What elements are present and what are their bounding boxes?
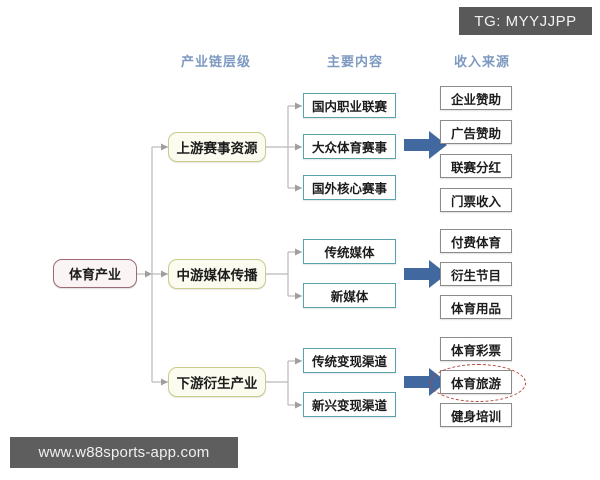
node-revenue-downstream-1[interactable]: 体育彩票 bbox=[440, 337, 512, 361]
node-revenue-upstream-4[interactable]: 门票收入 bbox=[440, 188, 512, 212]
diagram-canvas: 产业链层级 主要内容 收入来源 体育产业 上游赛事资源 中游媒体传播 下游衍生产… bbox=[0, 0, 600, 480]
tg-badge: TG: MYYJJPP bbox=[459, 7, 592, 35]
node-revenue-upstream-1[interactable]: 企业赞助 bbox=[440, 86, 512, 110]
node-content-midstream-1[interactable]: 传统媒体 bbox=[303, 239, 396, 264]
node-revenue-midstream-1[interactable]: 付费体育 bbox=[440, 229, 512, 253]
node-content-upstream-3[interactable]: 国外核心赛事 bbox=[303, 175, 396, 200]
node-revenue-upstream-2[interactable]: 广告赞助 bbox=[440, 120, 512, 144]
node-content-downstream-2[interactable]: 新兴变现渠道 bbox=[303, 392, 396, 417]
column-header-stage: 产业链层级 bbox=[166, 51, 266, 70]
column-header-revenue: 收入来源 bbox=[437, 51, 527, 70]
node-revenue-downstream-3[interactable]: 健身培训 bbox=[440, 403, 512, 427]
node-revenue-midstream-3[interactable]: 体育用品 bbox=[440, 295, 512, 319]
site-watermark: www.w88sports-app.com bbox=[10, 437, 238, 468]
node-root-sports-industry[interactable]: 体育产业 bbox=[53, 259, 137, 288]
node-revenue-upstream-3[interactable]: 联赛分红 bbox=[440, 154, 512, 178]
node-stage-midstream[interactable]: 中游媒体传播 bbox=[168, 259, 266, 289]
node-stage-upstream[interactable]: 上游赛事资源 bbox=[168, 132, 266, 162]
node-revenue-downstream-2[interactable]: 体育旅游 bbox=[440, 370, 512, 394]
node-content-upstream-2[interactable]: 大众体育赛事 bbox=[303, 134, 396, 159]
node-content-downstream-1[interactable]: 传统变现渠道 bbox=[303, 348, 396, 373]
node-stage-downstream[interactable]: 下游衍生产业 bbox=[168, 367, 266, 397]
column-header-content: 主要内容 bbox=[310, 51, 400, 70]
node-content-midstream-2[interactable]: 新媒体 bbox=[303, 283, 396, 308]
node-revenue-midstream-2[interactable]: 衍生节目 bbox=[440, 262, 512, 286]
node-content-upstream-1[interactable]: 国内职业联赛 bbox=[303, 93, 396, 118]
